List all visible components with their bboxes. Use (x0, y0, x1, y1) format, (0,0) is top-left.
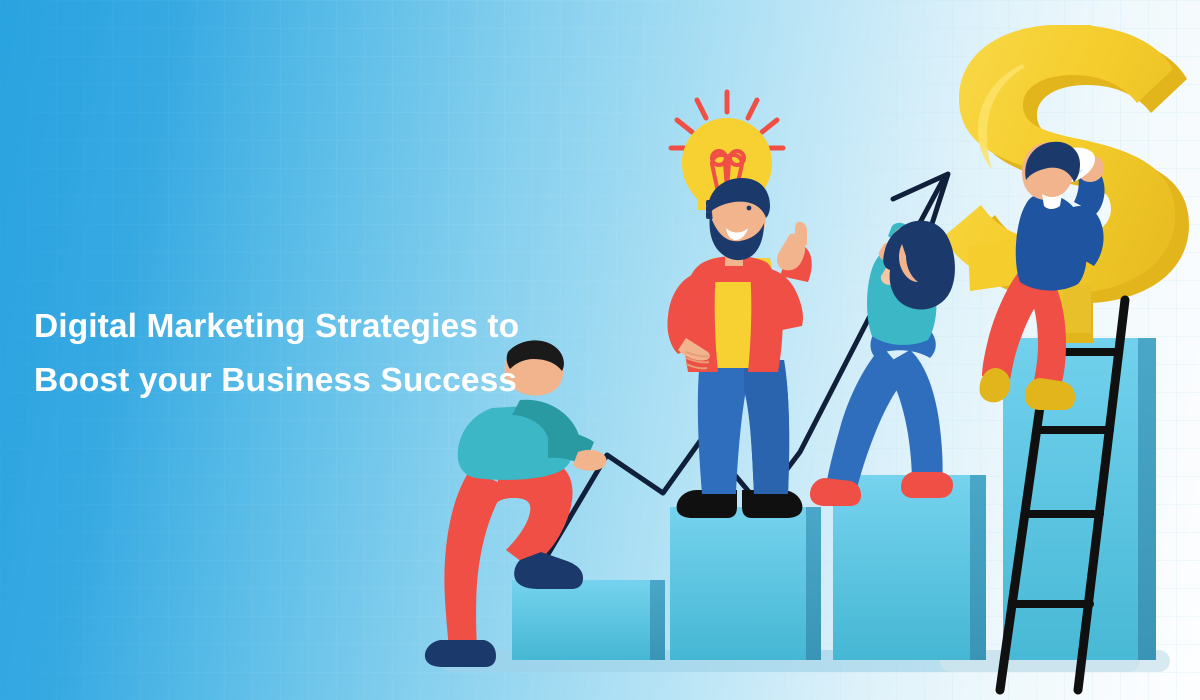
bar-2 (670, 507, 821, 660)
page-title: Digital Marketing Strategies to Boost yo… (34, 300, 634, 409)
pointing-finger (795, 222, 807, 245)
hand (573, 450, 607, 471)
shoe-back (425, 640, 496, 667)
shoe-left (677, 490, 737, 518)
figure-woman-arrow (810, 221, 955, 506)
shoe-front (901, 472, 953, 498)
leg-front (882, 350, 943, 484)
eye (747, 206, 752, 211)
shoe-back (810, 478, 861, 506)
bar-1 (512, 580, 665, 660)
shoe-right (742, 490, 802, 518)
marketing-banner: Digital Marketing Strategies to Boost yo… (0, 0, 1200, 700)
